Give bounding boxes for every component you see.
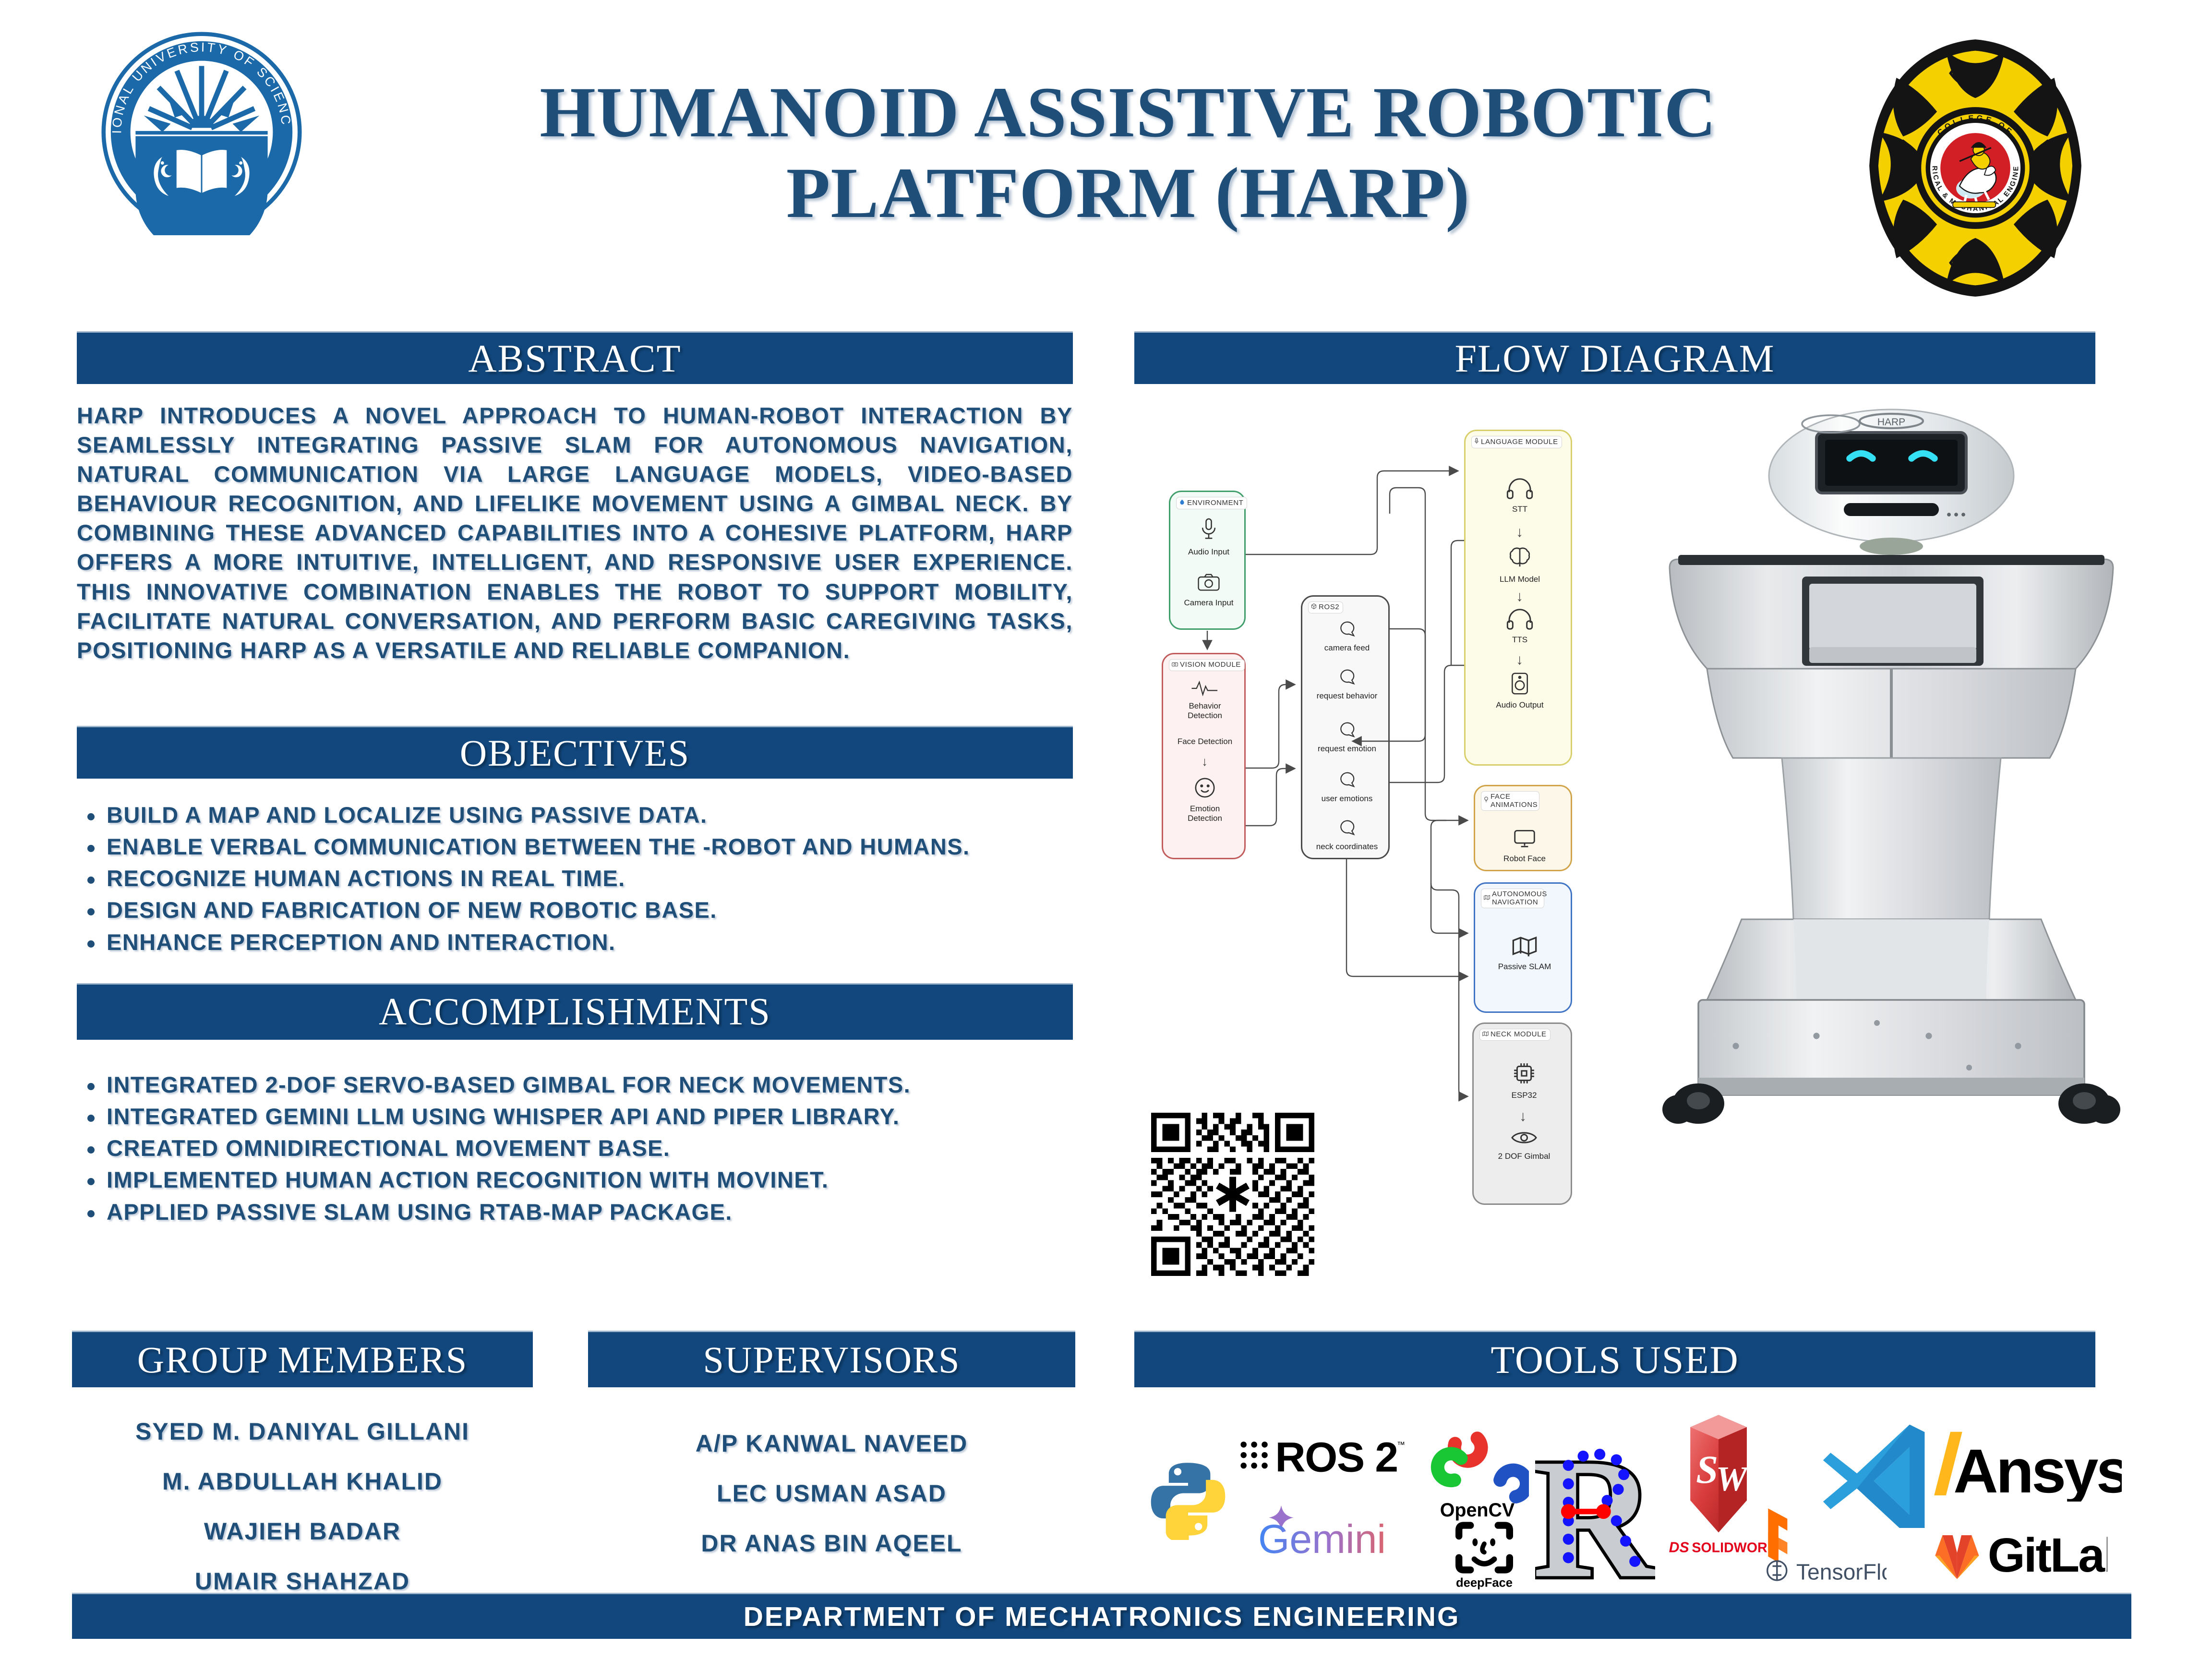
- gitlab-logo: GitLab: [1925, 1508, 2107, 1590]
- node-neck-coordinates: neck coordinates: [1316, 818, 1378, 852]
- environment-group-tag: ENVIRONMENT: [1176, 497, 1247, 509]
- group-members-section-header: GROUP MEMBERS: [72, 1331, 533, 1387]
- nust-seal-logo: NATIONAL UNIVERSITY OF SCIENCES & PAKIST…: [98, 29, 305, 235]
- list-item: INTEGRATED 2-DOF SERVO-BASED GIMBAL FOR …: [81, 1070, 1077, 1099]
- node-request-behavior: request behavior: [1316, 668, 1378, 701]
- footer-text: DEPARTMENT OF MECHATRONICS ENGINEERING: [744, 1601, 1460, 1633]
- node-tts: TTS: [1489, 609, 1551, 645]
- supervisors-list: A/P KANWAL NAVEED LEC USMAN ASAD DR ANAS…: [588, 1419, 1075, 1568]
- python-logo: [1147, 1445, 1229, 1553]
- node-passive-slam: Passive SLAM: [1493, 936, 1556, 972]
- flow-group-ros2: ROS2 camera feed request behavior reques…: [1301, 595, 1390, 859]
- camera-icon: [1178, 573, 1240, 596]
- tools-logo-row: ROS 2 ™ Gemini OpenCV: [1138, 1402, 2098, 1589]
- gemini-logo: Gemini: [1255, 1499, 1414, 1561]
- ansys-wordmark: Ansys: [1953, 1436, 2122, 1501]
- group-members-list: SYED M. DANIYAL GILLANI M. ABDULLAH KHAL…: [72, 1407, 533, 1606]
- map-icon: [1482, 1031, 1489, 1039]
- poster-title-line-1: HUMANOID ASSISTIVE ROBOTIC: [413, 72, 1843, 153]
- node-behavior-detection: Behavior Detection: [1174, 678, 1236, 721]
- list-item: DESIGN AND FABRICATION OF NEW ROBOTIC BA…: [81, 896, 1077, 925]
- chip-icon: [1493, 1061, 1555, 1089]
- node-camera-feed: camera feed: [1316, 620, 1378, 653]
- svg-text:S: S: [1696, 1447, 1718, 1491]
- arrow-down-icon: ↓: [1516, 653, 1523, 667]
- bulb-icon: [1484, 796, 1489, 805]
- opencv-logo: OpenCV: [1426, 1412, 1529, 1523]
- list-item: SYED M. DANIYAL GILLANI: [72, 1407, 533, 1456]
- list-item: DR ANAS BIN AQEEL: [588, 1518, 1075, 1568]
- node-robot-face: Robot Face: [1493, 829, 1556, 864]
- arrow-down-icon: ↓: [1519, 1109, 1527, 1124]
- neck-module-group-tag: NECK MODULE: [1479, 1029, 1551, 1041]
- ansys-logo: Ansys: [1930, 1426, 2122, 1503]
- ros2-wordmark: ROS 2: [1275, 1435, 1397, 1481]
- face-animations-group-tag: FACE ANIMATIONS: [1481, 791, 1539, 811]
- node-llm-model: LLM Model: [1489, 545, 1551, 584]
- vision-module-group-tag: VISION MODULE: [1169, 659, 1245, 671]
- footer-band: DEPARTMENT OF MECHATRONICS ENGINEERING: [72, 1593, 2131, 1639]
- qr-code[interactable]: [1151, 1113, 1314, 1276]
- flow-group-neck-module: NECK MODULE ESP32 ↓ 2 DOF Gimbal: [1472, 1022, 1572, 1205]
- waveform-icon: [1174, 678, 1236, 699]
- ros2-group-tag: ROS2: [1308, 601, 1343, 613]
- node-audio-input: Audio Input: [1178, 517, 1240, 557]
- list-item: WAJIEH BADAR: [72, 1506, 533, 1556]
- microphone-icon: [1474, 438, 1479, 446]
- abstract-section-header: ABSTRACT: [77, 331, 1073, 384]
- arrow-down-icon: ↓: [1516, 525, 1523, 540]
- node-request-emotion: request emotion: [1316, 721, 1378, 754]
- list-item: ENHANCE PERCEPTION AND INTERACTION.: [81, 928, 1077, 957]
- ceme-crest-logo: COLLEGE OF ELECTRICAL & MECHANICAL ENGIN…: [1863, 31, 2088, 305]
- message-bubble-icon: [1316, 620, 1378, 641]
- tensorflow-lite-wordmark: TensorFlow Lite: [1796, 1559, 1887, 1584]
- svg-text:DS: DS: [1669, 1540, 1689, 1556]
- list-item: BUILD A MAP AND LOCALIZE USING PASSIVE D…: [81, 801, 1077, 829]
- page-title: HUMANOID ASSISTIVE ROBOTIC PLATFORM (HAR…: [413, 72, 1843, 233]
- message-bubble-icon: [1316, 770, 1378, 792]
- message-bubble-icon: [1316, 818, 1378, 840]
- list-item: ENABLE VERBAL COMMUNICATION BETWEEN THE …: [81, 832, 1077, 861]
- eye-icon: [1493, 1129, 1555, 1150]
- node-2dof-gimbal: 2 DOF Gimbal: [1493, 1129, 1555, 1161]
- list-item: A/P KANWAL NAVEED: [588, 1419, 1075, 1468]
- supervisors-section-header: SUPERVISORS: [588, 1331, 1075, 1387]
- flow-group-language-module: LANGUAGE MODULE STT ↓ LLM Model ↓ TTS: [1464, 430, 1572, 766]
- environment-icon: [1179, 499, 1185, 507]
- tools-section-header: TOOLS USED: [1134, 1331, 2095, 1387]
- node-esp32: ESP32: [1493, 1061, 1555, 1100]
- node-user-emotions: user emotions: [1316, 770, 1378, 804]
- camera-icon: [1172, 661, 1178, 669]
- list-item: APPLIED PASSIVE SLAM USING RTAB-MAP PACK…: [81, 1198, 1077, 1226]
- gitlab-wordmark: GitLab: [1988, 1528, 2107, 1582]
- message-bubble-icon: [1316, 721, 1378, 742]
- ros2-logo: ROS 2 ™: [1236, 1431, 1409, 1484]
- list-item: CREATED OMNIDIRECTIONAL MOVEMENT BASE.: [81, 1134, 1077, 1163]
- abstract-body-text: HARP INTRODUCES A NOVEL APPROACH TO HUMA…: [77, 401, 1073, 665]
- speaker-icon: [1489, 672, 1551, 698]
- map-icon: [1484, 894, 1490, 902]
- objectives-list: BUILD A MAP AND LOCALIZE USING PASSIVE D…: [81, 801, 1077, 960]
- rtabmap-logo: R: [1535, 1430, 1655, 1588]
- node-audio-output: Audio Output: [1489, 672, 1551, 710]
- svg-text:W: W: [1716, 1459, 1750, 1498]
- arrow-down-icon: ↓: [1202, 755, 1208, 768]
- deepface-logo: deepFace: [1441, 1513, 1527, 1590]
- headphones-icon: [1489, 478, 1551, 503]
- gemini-wordmark: Gemini: [1258, 1516, 1386, 1559]
- autonomous-navigation-group-tag: AUTONOMOUS NAVIGATION: [1481, 889, 1544, 908]
- deepface-wordmark: deepFace: [1456, 1576, 1513, 1590]
- svg-text:™: ™: [1397, 1440, 1405, 1449]
- robot-head-badge: HARP: [1877, 417, 1905, 428]
- microphone-icon: [1178, 517, 1240, 545]
- vscode-logo: [1819, 1415, 1932, 1528]
- list-item: IMPLEMENTED HUMAN ACTION RECOGNITION WIT…: [81, 1166, 1077, 1194]
- node-face-detection: Face Detection ↓: [1174, 735, 1236, 746]
- language-module-group-tag: LANGUAGE MODULE: [1471, 436, 1562, 448]
- harp-robot-photo: HARP: [1647, 398, 2136, 1325]
- accomplishments-list: INTEGRATED 2-DOF SERVO-BASED GIMBAL FOR …: [81, 1070, 1077, 1229]
- arrow-down-icon: ↓: [1516, 589, 1523, 604]
- list-item: RECOGNIZE HUMAN ACTIONS IN REAL TIME.: [81, 864, 1077, 893]
- node-camera-input: Camera Input: [1178, 573, 1240, 608]
- node-stt: STT: [1489, 478, 1551, 514]
- smiley-icon: [1174, 777, 1236, 802]
- poster-title-line-2: PLATFORM (HARP): [413, 153, 1843, 233]
- list-item: M. ABDULLAH KHALID: [72, 1456, 533, 1506]
- list-item: LEC USMAN ASAD: [588, 1468, 1075, 1518]
- brain-icon: [1489, 545, 1551, 573]
- accomplishments-section-header: ACCOMPLISHMENTS: [77, 983, 1073, 1040]
- flow-group-vision-module: VISION MODULE Behavior Detection Face De…: [1162, 653, 1246, 859]
- map-icon: [1493, 936, 1556, 960]
- flow-group-environment: ENVIRONMENT Audio Input Camera Input: [1169, 491, 1246, 630]
- list-item: INTEGRATED GEMINI LLM USING WHISPER API …: [81, 1102, 1077, 1131]
- objectives-section-header: OBJECTIVES: [77, 726, 1073, 779]
- flow-diagram-section-header: FLOW DIAGRAM: [1134, 331, 2095, 384]
- flow-group-face-animations: FACE ANIMATIONS Robot Face: [1474, 785, 1572, 871]
- flow-group-autonomous-navigation: AUTONOMOUS NAVIGATION Passive SLAM: [1474, 882, 1572, 1013]
- headphones-icon: [1489, 609, 1551, 633]
- node-emotion-detection: Emotion Detection: [1174, 777, 1236, 823]
- cube-icon: [1311, 603, 1317, 612]
- monitor-icon: [1493, 829, 1556, 852]
- message-bubble-icon: [1316, 668, 1378, 689]
